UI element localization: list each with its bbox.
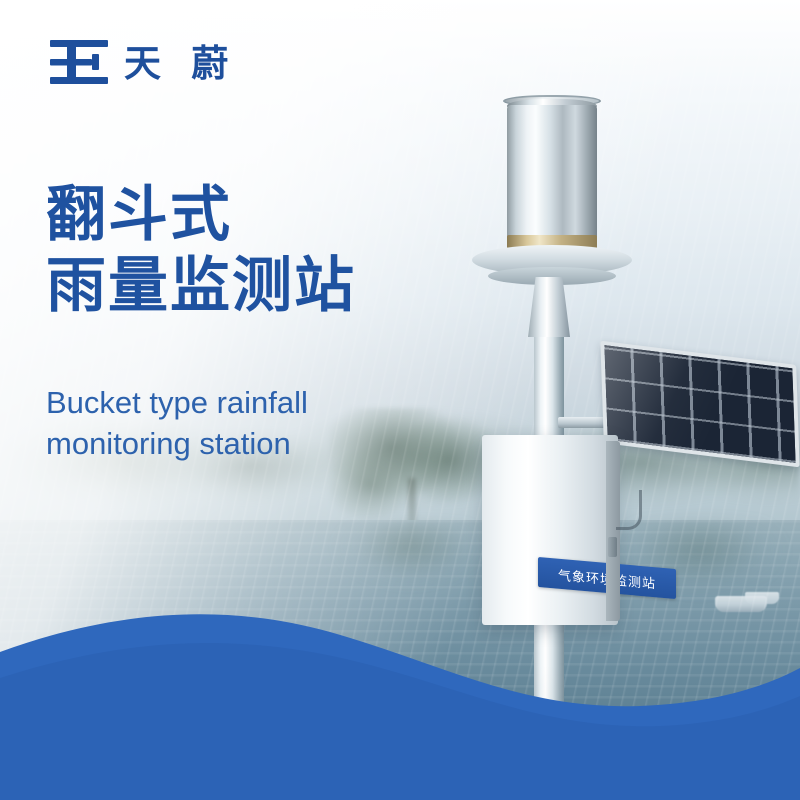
hero-title-line-2: 雨量监测站 [46,251,486,322]
solar-panel [600,341,799,468]
rain-gauge-neck [528,277,570,337]
hero-subtitle-line-1: Bucket type rainfall [46,385,308,420]
tianwei-logo-icon [48,36,110,90]
enclosure-lock-icon [608,537,617,557]
decorative-wave [0,560,800,800]
rain-gauge-cylinder [507,105,597,240]
hero-subtitle: Bucket type rainfall monitoring station [46,383,466,465]
brand-logo[interactable]: 天 蔚 [48,36,238,90]
hero-subtitle-line-2: monitoring station [46,424,466,465]
sensor-cable [616,490,642,530]
brand-name: 天 蔚 [124,45,238,82]
hero-title: 翻斗式 雨量监测站 [46,180,486,322]
solar-panel-glare [604,345,795,463]
hero-title-line-1: 翻斗式 [46,181,232,248]
product-poster: 气象环境监测站 天 蔚 翻斗式 雨量监测站 Bucket type rainfa… [0,0,800,800]
